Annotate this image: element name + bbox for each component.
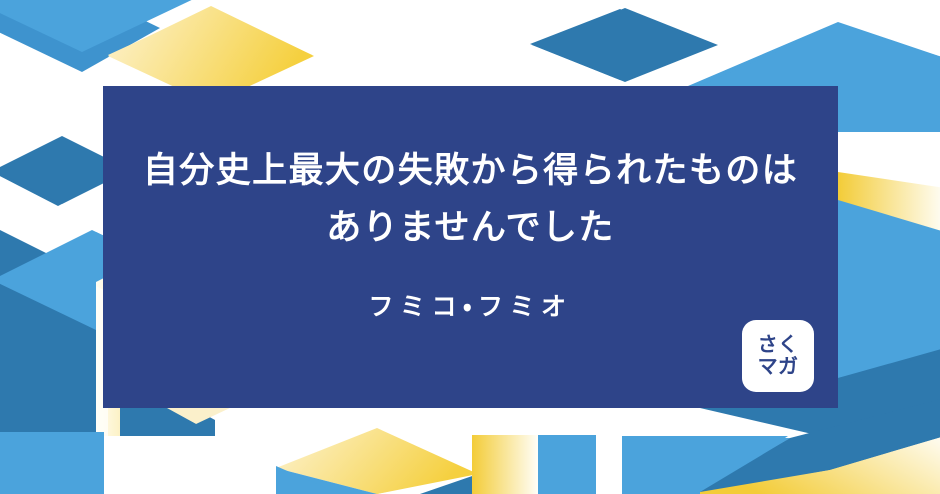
author-name: フミコ・フミオ: [103, 292, 838, 322]
article-title: 自分史上最大の失敗から得られたものは ありませんでした: [103, 143, 838, 256]
title-line-2: ありませんでした: [103, 200, 838, 257]
author-block: フミコ・フミオ: [103, 292, 838, 322]
sakumaga-logo[interactable]: さく マガ: [742, 320, 814, 392]
logo-line-1: さく: [758, 334, 799, 356]
logo-line-2: マガ: [758, 356, 799, 378]
logo-plate: さく マガ: [742, 320, 814, 392]
article-card: 自分史上最大の失敗から得られたものは ありませんでした フミコ・フミオ さく マ…: [103, 86, 838, 408]
title-line-1: 自分史上最大の失敗から得られたものは: [103, 143, 838, 200]
og-image-canvas: 自分史上最大の失敗から得られたものは ありませんでした フミコ・フミオ さく マ…: [0, 0, 940, 494]
